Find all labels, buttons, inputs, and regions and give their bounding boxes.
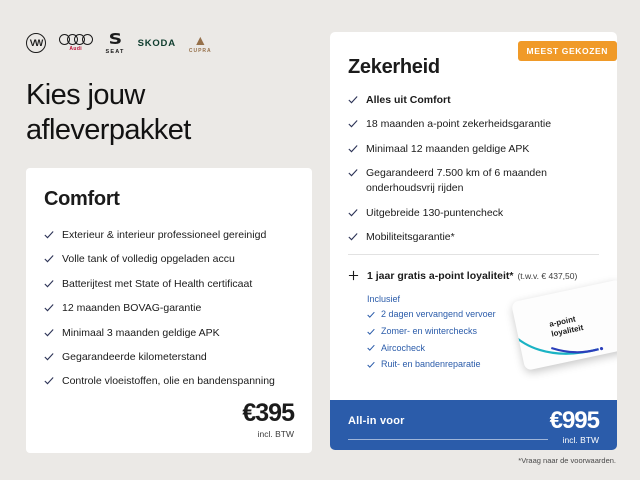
footer-label: All-in voor (348, 409, 405, 427)
check-icon (44, 303, 54, 313)
list-item: Minimaal 12 maanden geldige APK (348, 142, 599, 157)
loyalty-card-graphic: a-pointloyaliteit (511, 279, 617, 371)
inclusief-text: Aircocheck (381, 343, 425, 355)
audi-logo: Audi (59, 34, 93, 52)
feature-text: Uitgebreide 130-puntencheck (366, 206, 503, 221)
plus-icon (348, 268, 359, 279)
skoda-logo: SKODA (138, 38, 176, 49)
brand-logo-strip: VW Audi S SEAT SKODA ▲ CUPRA (26, 29, 212, 57)
inclusief-text: Ruit- en bandenreparatie (381, 359, 481, 371)
page-title: Kies jouw afleverpakket (26, 78, 296, 149)
loyalty-row: 1 jaar gratis a-point loyaliteit*(t.w.v.… (348, 266, 599, 284)
list-item: Batterijtest met State of Health certifi… (44, 277, 294, 292)
check-icon (348, 208, 358, 218)
inclusief-text: Zomer- en winterchecks (381, 326, 477, 338)
vw-icon: VW (26, 33, 46, 53)
loyalty-label: 1 jaar gratis a-point loyaliteit* (367, 270, 513, 282)
cupra-logo: ▲ CUPRA (189, 33, 212, 54)
check-icon (348, 119, 358, 129)
feature-text: Mobiliteitsgarantie* (366, 230, 455, 245)
zekerheid-price-note: incl. BTW (550, 435, 599, 445)
feature-text: Exterieur & interieur professioneel gere… (62, 228, 266, 243)
comfort-price: €395 (242, 401, 294, 426)
feature-text: Gegarandeerde kilometerstand (62, 350, 207, 365)
footer-underline (348, 439, 548, 440)
feature-text: Batterijtest met State of Health certifi… (62, 277, 252, 292)
list-item: Minimaal 3 maanden geldige APK (44, 326, 294, 341)
skoda-wordmark: SKODA (138, 38, 176, 49)
comfort-package-card[interactable]: Comfort Exterieur & interieur profession… (26, 168, 312, 453)
inclusief-text: 2 dagen vervangend vervoer (381, 309, 496, 321)
audi-rings-icon (59, 34, 93, 45)
list-item: Uitgebreide 130-puntencheck (348, 206, 599, 221)
list-item: Alles uit Comfort (348, 93, 599, 108)
check-icon (44, 279, 54, 289)
list-item: Controle vloeistoffen, olie en bandenspa… (44, 374, 294, 389)
feature-text: Minimaal 3 maanden geldige APK (62, 326, 220, 341)
vw-logo: VW (26, 33, 46, 53)
list-item: Mobiliteitsgarantie* (348, 230, 599, 245)
check-icon (44, 254, 54, 264)
list-item: 18 maanden a-point zekerheidsgarantie (348, 117, 599, 132)
check-icon (367, 311, 375, 319)
cupra-icon: ▲ (193, 33, 207, 47)
feature-text: Gegarandeerd 7.500 km of 6 maanden onder… (366, 166, 599, 196)
seat-logo: S SEAT (106, 32, 125, 55)
seat-icon: S (108, 32, 122, 47)
check-icon (44, 352, 54, 362)
check-icon (367, 328, 375, 336)
feature-text: Minimaal 12 maanden geldige APK (366, 142, 529, 157)
seat-wordmark: SEAT (106, 49, 125, 55)
zekerheid-package-card[interactable]: MEEST GEKOZEN Zekerheid Alles uit Comfor… (330, 32, 617, 424)
audi-wordmark: Audi (69, 46, 82, 52)
check-icon (44, 328, 54, 338)
feature-text: Alles uit Comfort (366, 93, 451, 108)
check-icon (348, 95, 358, 105)
zekerheid-price-block: €995 incl. BTW (550, 409, 599, 445)
divider (348, 254, 599, 255)
disclaimer-text: *Vraag naar de voorwaarden. (518, 456, 616, 465)
check-icon (44, 376, 54, 386)
comfort-title: Comfort (44, 188, 294, 211)
feature-text: Volle tank of volledig opgeladen accu (62, 252, 235, 267)
zekerheid-price: €995 (550, 409, 599, 433)
status-badge: MEEST GEKOZEN (518, 41, 617, 61)
feature-text: Controle vloeistoffen, olie en bandenspa… (62, 374, 275, 389)
zekerheid-price-footer: All-in voor €995 incl. BTW (330, 400, 617, 450)
cupra-wordmark: CUPRA (189, 48, 212, 54)
check-icon (367, 344, 375, 352)
feature-text: 12 maanden BOVAG-garantie (62, 301, 201, 316)
check-icon (348, 144, 358, 154)
list-item: Gegarandeerd 7.500 km of 6 maanden onder… (348, 166, 599, 196)
list-item: Exterieur & interieur professioneel gere… (44, 228, 294, 243)
loyalty-worth: (t.w.v. € 437,50) (517, 271, 577, 281)
list-item: 12 maanden BOVAG-garantie (44, 301, 294, 316)
zekerheid-feature-list: Alles uit Comfort 18 maanden a-point zek… (348, 93, 599, 245)
comfort-feature-list: Exterieur & interieur professioneel gere… (44, 228, 294, 389)
list-item: Volle tank of volledig opgeladen accu (44, 252, 294, 267)
check-icon (348, 232, 358, 242)
check-icon (44, 230, 54, 240)
check-icon (348, 168, 358, 178)
comfort-price-note: incl. BTW (242, 429, 294, 439)
comfort-price-block: €395 incl. BTW (242, 401, 294, 439)
check-icon (367, 361, 375, 369)
list-item: Gegarandeerde kilometerstand (44, 350, 294, 365)
feature-text: 18 maanden a-point zekerheidsgarantie (366, 117, 551, 132)
